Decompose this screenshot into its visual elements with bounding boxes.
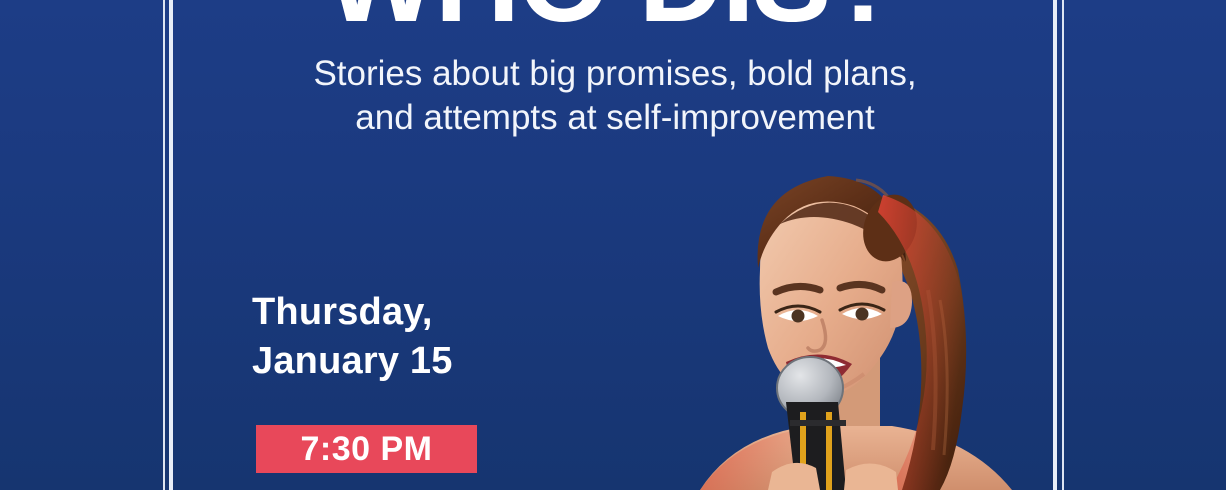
- event-date-line-2: January 15: [252, 337, 453, 386]
- poster-title: WHO DIS?: [163, 0, 1062, 40]
- border-rule-right-inner: [1062, 0, 1064, 490]
- event-date-line-1: Thursday,: [252, 291, 433, 333]
- subtitle-line-1: Stories about big promises, bold plans,: [313, 54, 916, 93]
- event-poster: WHO DIS? Stories about big promises, bol…: [0, 0, 1226, 490]
- border-rule-left-inner: [163, 0, 165, 490]
- subtitle-line-2: and attempts at self-improvement: [170, 96, 1060, 140]
- event-time-label: 7:30 PM: [301, 430, 433, 469]
- performer-photo: [640, 150, 1060, 490]
- event-date: Thursday, January 15: [252, 288, 453, 387]
- poster-subtitle: Stories about big promises, bold plans, …: [170, 52, 1060, 140]
- event-time-badge: 7:30 PM: [256, 425, 477, 473]
